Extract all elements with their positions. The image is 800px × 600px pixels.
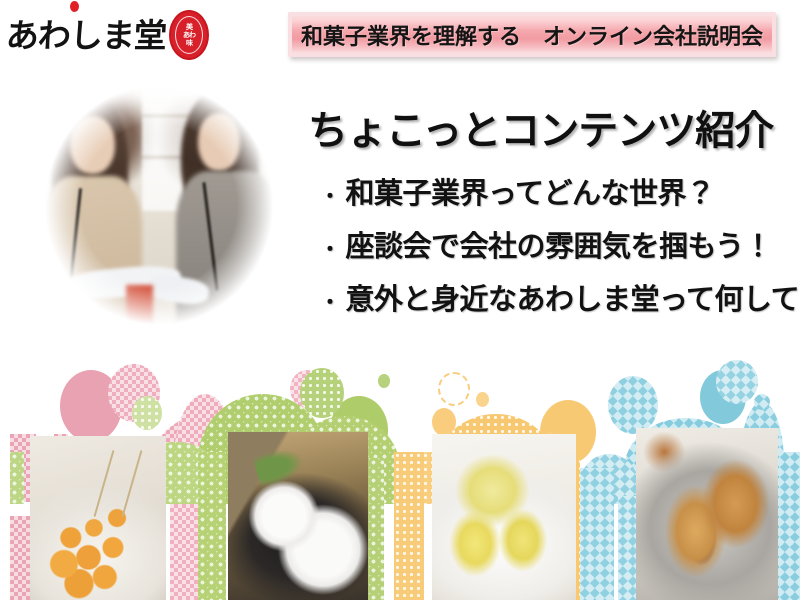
deco-bar-green-2 — [10, 452, 24, 504]
bullet-text: 意外と身近なあわしま堂って何してる会社？ — [346, 276, 800, 318]
list-item: ・ 座談会で会社の雰囲気を掴もう！ — [320, 223, 800, 265]
brand-seal-inner: 美 あわ 味 — [175, 16, 203, 54]
header-banner-title: 和菓子業界を理解する オンライン会社説明会 — [301, 19, 763, 51]
seal-char-bottom: 味 — [186, 39, 192, 47]
deco-dot-green-tiny — [378, 374, 390, 388]
deco-bar-yellow-1 — [394, 452, 424, 600]
bullet-marker-icon: ・ — [320, 292, 340, 312]
deco-circle-yellow-dashed — [438, 372, 470, 406]
list-item: ・ 意外と身近なあわしま堂って何してる会社？ — [320, 276, 800, 318]
dorayaki-image-layer — [636, 428, 778, 600]
deco-bar-blue-1 — [580, 468, 614, 600]
brand-logo-accent-dot — [70, 1, 79, 12]
bullet-marker-icon: ・ — [320, 239, 340, 259]
bullet-text: 座談会で会社の雰囲気を掴もう！ — [346, 223, 773, 265]
brand-seal-icon: 美 あわ 味 — [169, 10, 209, 60]
dorayaki-photo — [636, 428, 778, 600]
deco-circle-green-dots-small — [132, 396, 162, 430]
daifuku-mochi-photo — [228, 432, 368, 600]
seal-char-mid: あわ — [183, 31, 195, 39]
bullet-marker-icon: ・ — [320, 186, 340, 206]
deco-circle-blue-lattice-2 — [608, 376, 658, 434]
brand-logo: あわしま堂 美 あわ 味 — [6, 6, 181, 64]
yellow-manju-photo — [432, 434, 576, 600]
dango-image-layer — [30, 436, 166, 600]
page-title: ちょこっとコンテンツ紹介 — [308, 98, 773, 156]
office-employees-photo — [20, 62, 298, 348]
bullet-text: 和菓子業界ってどんな世界？ — [346, 170, 715, 212]
bullet-list: ・ 和菓子業界ってどんな世界？ ・ 座談会で会社の雰囲気を掴もう！ ・ 意外と身… — [320, 170, 800, 329]
deco-knob-blue — [754, 394, 770, 410]
slide-root: あわしま堂 美 あわ 味 和菓子業界を理解する オンライン会社説明会 — [0, 0, 800, 600]
footer-decorative-strip — [0, 356, 800, 600]
manju-image-layer — [432, 434, 576, 600]
list-item: ・ 和菓子業界ってどんな世界？ — [320, 170, 800, 212]
photo-oval-vignette — [20, 62, 298, 348]
deco-bar-green-1 — [198, 452, 226, 600]
seal-char-top: 美 — [186, 23, 192, 31]
deco-dot-yellow-tiny — [476, 392, 489, 407]
header-banner: 和菓子業界を理解する オンライン会社説明会 — [288, 12, 776, 57]
brand-logo-text: あわしま堂 — [5, 19, 167, 52]
deco-circle-blue-lattice — [716, 360, 758, 404]
mitarashi-dango-photo — [30, 436, 166, 600]
